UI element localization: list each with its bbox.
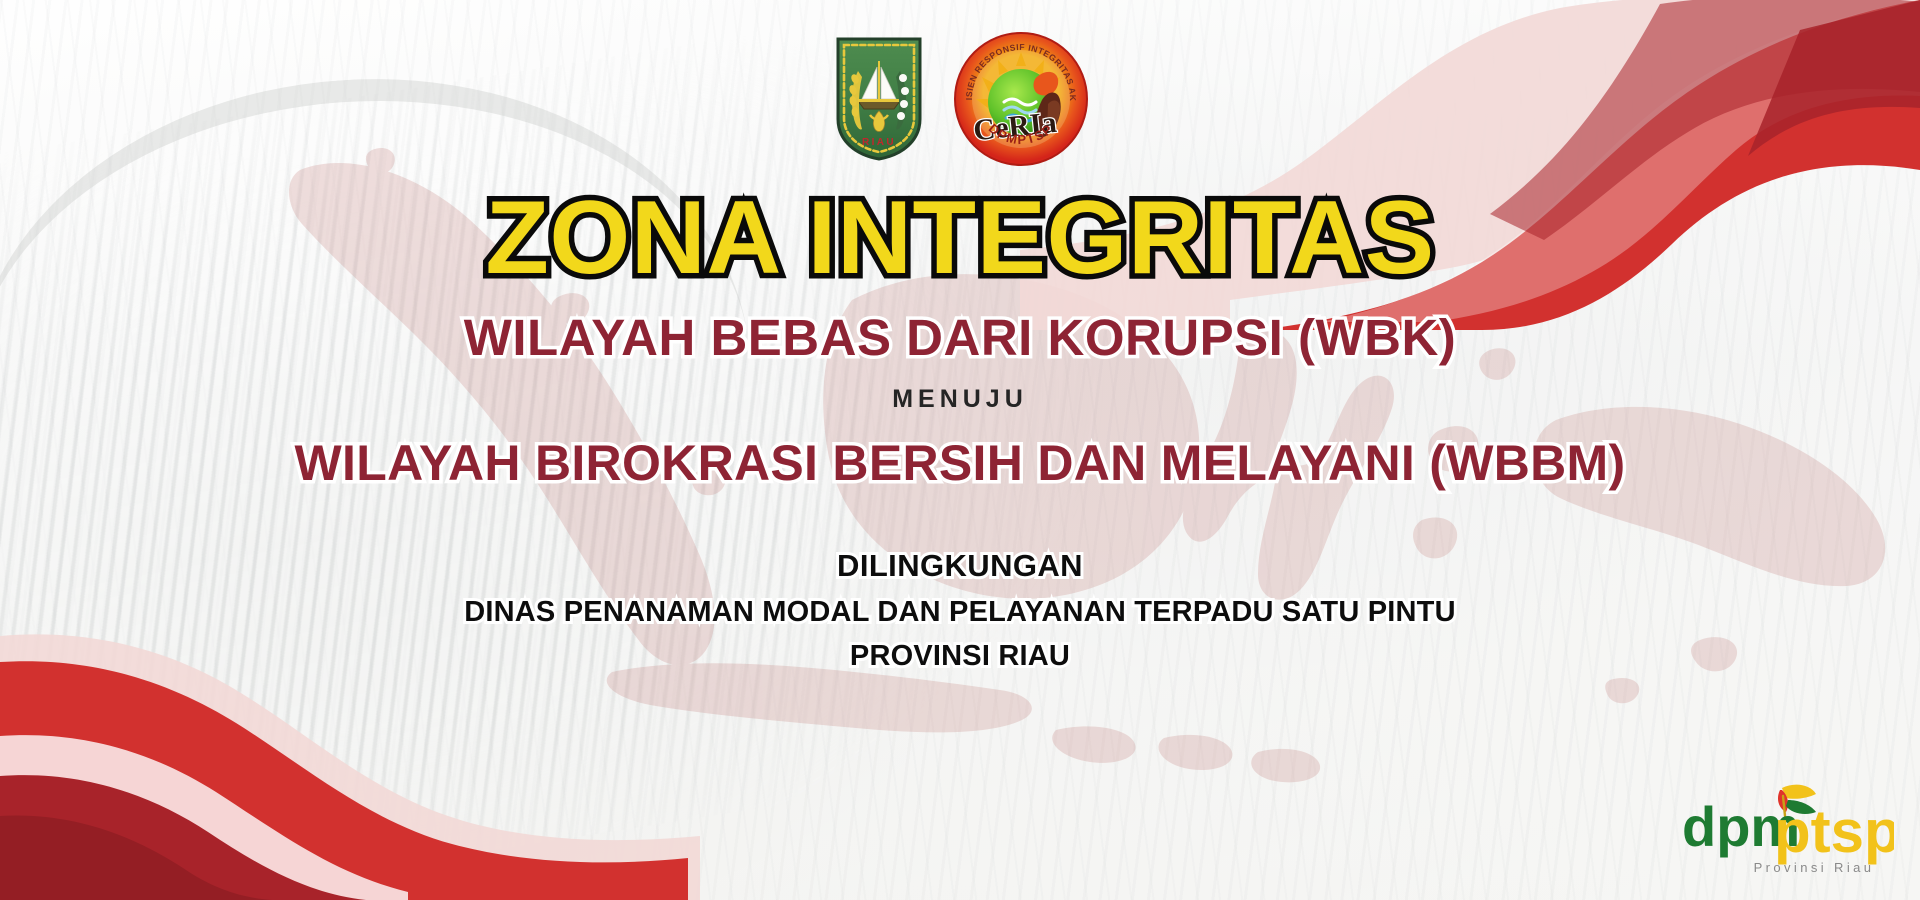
logo-row: RIAU [832, 26, 1088, 172]
ceria-dpmptsp-seal-icon: CeRIa CEPAT EFISIEN RESPONSIF INTEGRITAS… [954, 32, 1088, 166]
organization-name: DINAS PENANAMAN MODAL DAN PELAYANAN TERP… [464, 598, 1456, 627]
province-name: PROVINSI RIAU [464, 642, 1456, 671]
banner-content: RIAU [0, 0, 1920, 900]
page-title: ZONA INTEGRITAS [485, 186, 1434, 290]
scope-label: DILINGKUNGAN [464, 550, 1456, 581]
dpmptsp-wordmark-logo: dpm ptsp Provinsi Riau [1664, 774, 1894, 884]
ptsp-wordmark: ptsp [1774, 798, 1894, 865]
riau-provincial-crest-icon: RIAU [832, 35, 926, 163]
subtitle-wbbm: WILAYAH BIROKRASI BERSIH DAN MELAYANI (W… [295, 438, 1626, 488]
connector-label: MENUJU [892, 387, 1028, 412]
dpmptsp-tagline: Provinsi Riau [1754, 860, 1875, 875]
organization-block: DILINGKUNGAN DINAS PENANAMAN MODAL DAN P… [464, 550, 1456, 671]
subtitle-wbk: WILAYAH BEBAS DARI KORUPSI (WBK) [464, 312, 1457, 363]
svg-text:RIAU: RIAU [862, 137, 896, 148]
zona-integritas-banner: RIAU [0, 0, 1920, 900]
